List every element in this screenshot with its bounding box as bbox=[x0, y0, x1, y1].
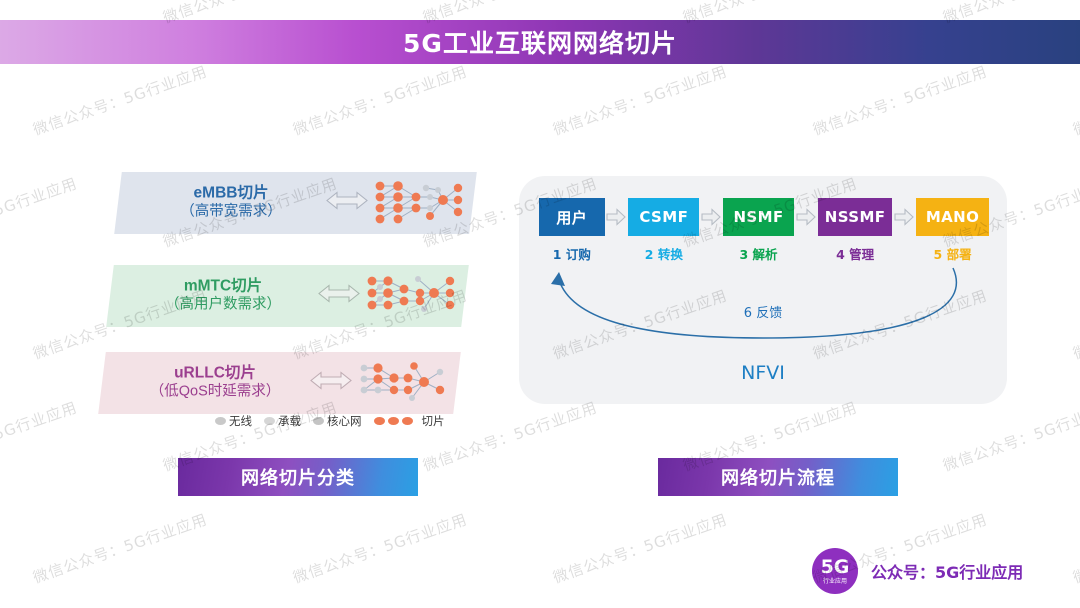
legend-swatch-wireless bbox=[215, 417, 226, 425]
network-topology-graphic bbox=[352, 358, 452, 408]
watermark-text: 微信公众号：5G行业应用 bbox=[810, 60, 990, 139]
double-arrow-icon bbox=[326, 190, 368, 217]
watermark-text: 微信公众号：5G行业应用 bbox=[1070, 284, 1080, 363]
legend-label-wireless: 无线 bbox=[229, 413, 252, 429]
slice-card-embb-text: eMBB切片 （高带宽需求） bbox=[146, 185, 316, 222]
step-label-convert: 2 转换 bbox=[628, 244, 699, 264]
watermark-text: 微信公众号：5G行业应用 bbox=[940, 396, 1080, 475]
legend-swatch-slice bbox=[374, 417, 385, 425]
legend-item-core-network: 核心网 bbox=[313, 413, 367, 429]
caption-slice-classification: 网络切片分类 bbox=[178, 458, 418, 496]
watermark-text: 微信公众号：5G行业应用 bbox=[1070, 60, 1080, 139]
slice-card-embb: eMBB切片 （高带宽需求） bbox=[114, 172, 477, 234]
slice-workflow-panel: 用户 CSMF NSMF NSSMF MANO 1 订购 2 转换 3 解析 bbox=[519, 176, 1007, 404]
network-topology-graphic bbox=[360, 271, 460, 321]
flow-box-csmf[interactable]: CSMF bbox=[628, 198, 699, 236]
slice-card-urllc-text: uRLLC切片 （低QoS时延需求） bbox=[130, 365, 300, 402]
slice-card-mmtc-sub: （高用户数需求） bbox=[138, 297, 308, 315]
legend-swatch-bearer bbox=[264, 417, 275, 425]
flow-box-mano[interactable]: MANO bbox=[916, 198, 989, 236]
label-spacer bbox=[699, 244, 723, 264]
feedback-label: 6 反馈 bbox=[519, 302, 1007, 321]
legend-item-bearer: 承载 bbox=[264, 413, 306, 429]
arrow-right-icon bbox=[699, 208, 723, 226]
legend-label-bearer: 承载 bbox=[278, 413, 301, 429]
arrow-right-icon bbox=[605, 208, 629, 226]
arrow-right-icon bbox=[892, 208, 916, 226]
slice-classification-panel: eMBB切片 （高带宽需求） bbox=[0, 0, 520, 608]
legend-swatch-core-network bbox=[313, 417, 324, 425]
label-spacer bbox=[892, 244, 916, 264]
brand-logo-main: 5G bbox=[821, 558, 850, 577]
watermark-text: 微信公众号：5G行业应用 bbox=[550, 508, 730, 587]
slice-card-urllc-sub: （低QoS时延需求） bbox=[130, 384, 300, 402]
slide-canvas: 5G工业互联网网络切片 eMBB切片 （高带宽需求） bbox=[0, 0, 1080, 608]
label-spacer bbox=[605, 244, 629, 264]
network-topology-graphic bbox=[368, 178, 468, 228]
arrow-right-icon bbox=[794, 208, 818, 226]
slice-card-embb-name: eMBB切片 bbox=[146, 185, 316, 204]
legend-swatch-slice bbox=[402, 417, 413, 425]
watermark-text: 微信公众号：5G行业应用 bbox=[1070, 508, 1080, 587]
workflow-step-row: 用户 CSMF NSMF NSSMF MANO bbox=[539, 198, 989, 236]
workflow-step-labels: 1 订购 2 转换 3 解析 4 管理 5 部署 bbox=[539, 244, 989, 264]
watermark-text: 微信公众号：5G行业应用 bbox=[550, 60, 730, 139]
topology-legend: 无线 承载 核心网 切片 bbox=[215, 412, 495, 430]
legend-item-wireless: 无线 bbox=[215, 413, 257, 429]
flow-box-nsmf[interactable]: NSMF bbox=[723, 198, 794, 236]
brand-footer: 5G 行业应用 公众号：5G行业应用 bbox=[812, 548, 1023, 594]
slice-card-urllc: uRLLC切片 （低QoS时延需求） bbox=[98, 352, 461, 414]
step-label-deploy: 5 部署 bbox=[916, 244, 989, 264]
step-label-order: 1 订购 bbox=[539, 244, 605, 264]
nfvi-label: NFVI bbox=[519, 362, 1007, 384]
legend-item-slice: 切片 bbox=[374, 413, 450, 429]
flow-box-nssmf[interactable]: NSSMF bbox=[818, 198, 893, 236]
caption-slice-workflow: 网络切片流程 bbox=[658, 458, 898, 496]
slice-card-embb-sub: （高带宽需求） bbox=[146, 204, 316, 222]
slice-card-mmtc-name: mMTC切片 bbox=[138, 278, 308, 297]
legend-label-core-network: 核心网 bbox=[327, 413, 362, 429]
slice-card-mmtc: mMTC切片 （高用户数需求） bbox=[106, 265, 469, 327]
step-label-manage: 4 管理 bbox=[818, 244, 893, 264]
step-label-parse: 3 解析 bbox=[723, 244, 794, 264]
label-spacer bbox=[794, 244, 818, 264]
brand-logo-5g-icon: 5G 行业应用 bbox=[812, 548, 858, 594]
legend-label-slice: 切片 bbox=[422, 413, 445, 429]
double-arrow-icon bbox=[318, 283, 360, 310]
double-arrow-icon bbox=[310, 370, 352, 397]
flow-box-user[interactable]: 用户 bbox=[539, 198, 605, 236]
legend-swatch-slice bbox=[388, 417, 399, 425]
brand-account-text: 公众号：5G行业应用 bbox=[871, 559, 1023, 583]
slice-card-urllc-name: uRLLC切片 bbox=[130, 365, 300, 384]
brand-logo-sub: 行业应用 bbox=[823, 579, 847, 585]
slice-card-mmtc-text: mMTC切片 （高用户数需求） bbox=[138, 278, 308, 315]
